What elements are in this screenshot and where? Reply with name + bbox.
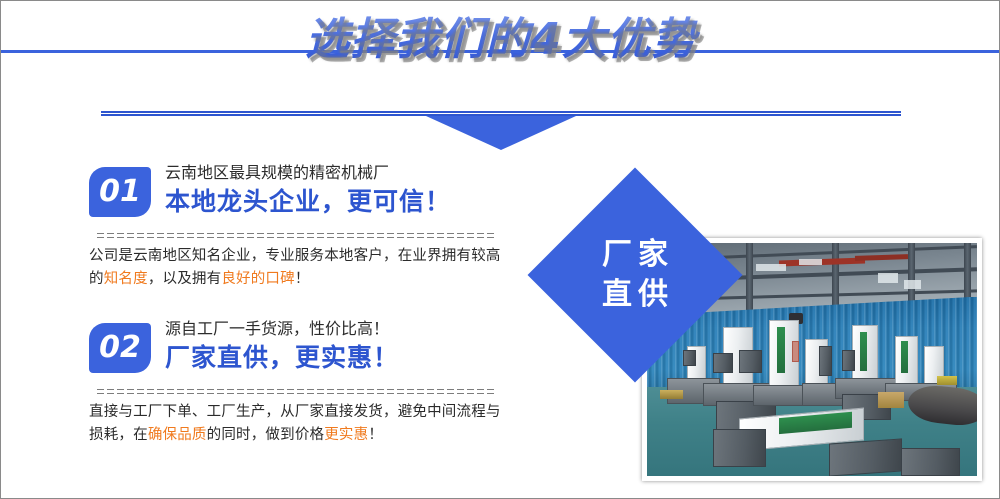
- photo-machine-green-panel: [860, 332, 867, 372]
- photo-machine-base: [713, 429, 766, 466]
- feature-subtitle: 源自工厂一手货源，性价比高！: [165, 317, 399, 341]
- feature-text-group: 源自工厂一手货源，性价比高！ 厂家直供，更实惠！: [165, 317, 399, 375]
- desc-part-b: 的同时，做到价格: [207, 427, 325, 443]
- photo-machine-green-panel: [901, 341, 908, 374]
- photo-crate: [937, 376, 957, 385]
- desc-highlight-2: 良好的口碑: [221, 271, 295, 287]
- desc-part-b: ，以及拥有: [148, 271, 222, 287]
- feature-gap: [89, 291, 529, 317]
- features-column: 01 云南地区最具规模的精密机械厂 本地龙头企业，更可信！ 公司是云南地区知名企…: [89, 161, 529, 447]
- desc-line1: 公司是云南地区知名企业，专业服务本地客户，在业界拥有较高: [89, 248, 501, 264]
- dashed-separator: [97, 389, 497, 394]
- photo-machine-base: [901, 448, 960, 476]
- feature-description: 直接与工厂下单、工厂生产，从厂家直接发货，避免中间流程与损耗，在确保品质的同时，…: [89, 401, 501, 447]
- dashed-separator: [97, 233, 497, 238]
- photo-machine: [819, 346, 832, 376]
- desc-part-c: ！: [295, 271, 310, 287]
- feature-text-group: 云南地区最具规模的精密机械厂 本地龙头企业，更可信！: [165, 161, 451, 219]
- photo-machine-detail: [792, 341, 799, 362]
- desc-highlight-1: 确保品质: [148, 427, 207, 443]
- photo-machine-base: [829, 439, 902, 476]
- desc-highlight-2: 更实惠: [324, 427, 368, 443]
- feature-number-badge: 02: [89, 323, 151, 373]
- photo-skylight: [878, 273, 898, 283]
- desc-part-c: ！: [368, 427, 383, 443]
- feature-headline: 本地龙头企业，更可信！: [165, 185, 451, 219]
- photo-machine: [739, 350, 762, 373]
- desc-line1: 直接与工厂下单、工厂生产，从厂家直接发货，避免中间流程与: [89, 404, 501, 420]
- down-chevron-icon: [426, 116, 576, 150]
- feature-item-02: 02 源自工厂一手货源，性价比高！ 厂家直供，更实惠！ 直接与工厂下单、工厂生产…: [89, 317, 529, 447]
- photo-crate: [878, 392, 904, 408]
- feature-subtitle: 云南地区最具规模的精密机械厂: [165, 161, 451, 185]
- photo-skylight: [904, 280, 921, 289]
- feature-headline: 厂家直供，更实惠！: [165, 341, 399, 375]
- feature-header: 01 云南地区最具规模的精密机械厂 本地龙头企业，更可信！: [89, 161, 529, 219]
- feature-item-01: 01 云南地区最具规模的精密机械厂 本地龙头企业，更可信！ 公司是云南地区知名企…: [89, 161, 529, 291]
- page-title: 选择我们的4大优势: [1, 9, 1000, 71]
- photo-skylight: [756, 264, 786, 271]
- photo-machine: [713, 353, 733, 374]
- photo-machine: [683, 350, 696, 366]
- photo-crate: [660, 390, 683, 399]
- promo-banner: 选择我们的4大优势 选择我们的4大优势 01 云南地区最具规模的精密机械厂 本地…: [0, 0, 1000, 499]
- desc-part-a: 的: [89, 271, 104, 287]
- feature-header: 02 源自工厂一手货源，性价比高！ 厂家直供，更实惠！: [89, 317, 529, 375]
- feature-description: 公司是云南地区知名企业，专业服务本地客户，在业界拥有较高的知名度，以及拥有良好的…: [89, 245, 501, 291]
- section-divider: [101, 111, 901, 151]
- desc-highlight-1: 知名度: [104, 271, 148, 287]
- feature-number-badge: 01: [89, 167, 151, 217]
- photo-skylight: [799, 259, 822, 265]
- desc-part-a: 损耗，在: [89, 427, 148, 443]
- photo-machine: [842, 350, 855, 371]
- photo-machine-green-panel: [777, 327, 785, 374]
